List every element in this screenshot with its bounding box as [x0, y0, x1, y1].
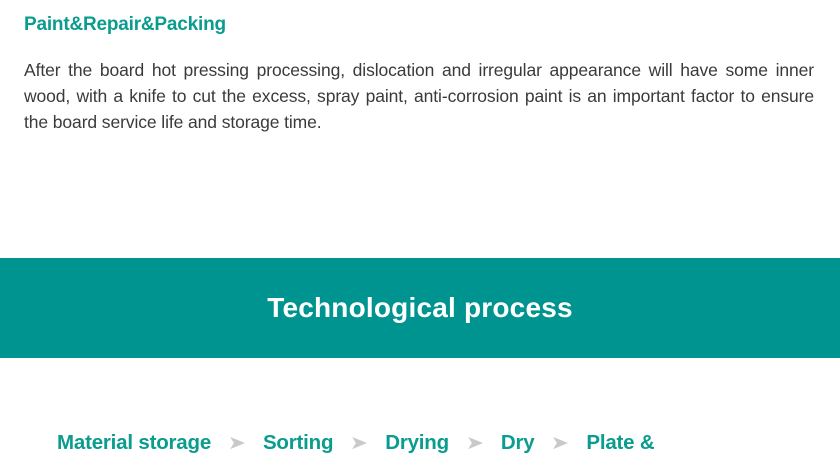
- chevron-right-icon: ➤: [466, 434, 484, 453]
- chevron-right-icon: ➤: [350, 434, 368, 453]
- technological-process-banner: Technological process: [0, 258, 840, 358]
- flow-step-sorting: Sorting: [263, 431, 333, 455]
- intro-paragraph: After the board hot pressing processing,…: [24, 36, 814, 135]
- flow-step-plate: Plate &: [586, 431, 654, 455]
- flow-step-dry: Dry: [501, 431, 535, 455]
- flow-step-material-storage: Material storage: [57, 431, 211, 455]
- flow-step-drying: Drying: [385, 431, 449, 455]
- page-root: Paint&Repair&Packing After the board hot…: [0, 0, 840, 468]
- process-flow: Material storage ➤ Sorting ➤ Drying ➤ Dr…: [0, 418, 840, 468]
- intro-section: Paint&Repair&Packing After the board hot…: [0, 0, 840, 135]
- banner-title: Technological process: [267, 292, 573, 324]
- chevron-right-icon: ➤: [228, 434, 246, 453]
- page-title: Paint&Repair&Packing: [24, 0, 816, 36]
- chevron-right-icon: ➤: [551, 434, 569, 453]
